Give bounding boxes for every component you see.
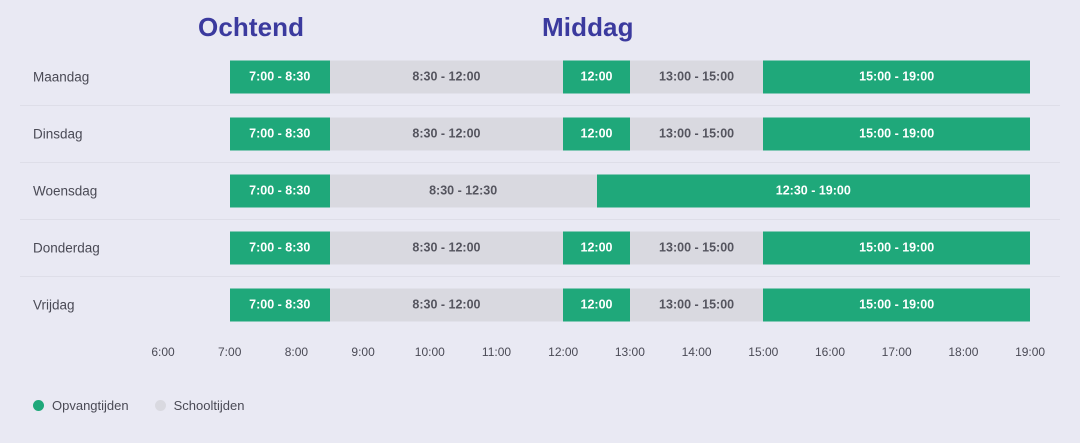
table-row: Donderdag7:00 - 8:308:30 - 12:0012:0013:… <box>0 219 1080 276</box>
axis-tick-label: 17:00 <box>882 345 912 359</box>
row-separator <box>20 162 1060 163</box>
axis-tick-label: 8:00 <box>285 345 308 359</box>
day-timeline-track: 7:00 - 8:308:30 - 12:3012:30 - 19:00 <box>0 174 1080 207</box>
axis-tick-label: 7:00 <box>218 345 241 359</box>
legend-item-care[interactable]: Opvangtijden <box>33 398 129 413</box>
legend-label: Opvangtijden <box>52 398 129 413</box>
care-time-segment[interactable]: 12:00 <box>563 231 630 264</box>
care-time-segment[interactable]: 7:00 - 8:30 <box>230 117 330 150</box>
axis-tick-label: 18:00 <box>948 345 978 359</box>
care-time-segment[interactable]: 7:00 - 8:30 <box>230 60 330 93</box>
care-time-segment[interactable]: 12:00 <box>563 288 630 321</box>
school-time-segment[interactable]: 8:30 - 12:00 <box>330 231 563 264</box>
legend-dot-icon <box>155 400 166 411</box>
school-time-segment[interactable]: 13:00 - 15:00 <box>630 117 763 150</box>
school-time-segment[interactable]: 8:30 - 12:00 <box>330 60 563 93</box>
axis-tick-label: 12:00 <box>548 345 578 359</box>
day-timeline-track: 7:00 - 8:308:30 - 12:0012:0013:00 - 15:0… <box>0 60 1080 93</box>
row-separator <box>20 219 1060 220</box>
care-time-segment[interactable]: 15:00 - 19:00 <box>763 231 1030 264</box>
legend-label: Schooltijden <box>174 398 245 413</box>
axis-tick-label: 14:00 <box>682 345 712 359</box>
section-header-middag: Middag <box>542 12 634 43</box>
school-time-segment[interactable]: 8:30 - 12:30 <box>330 174 597 207</box>
day-timeline-track: 7:00 - 8:308:30 - 12:0012:0013:00 - 15:0… <box>0 288 1080 321</box>
legend: OpvangtijdenSchooltijden <box>33 398 244 413</box>
axis-tick-label: 19:00 <box>1015 345 1045 359</box>
care-time-segment[interactable]: 12:30 - 19:00 <box>597 174 1031 207</box>
table-row: Dinsdag7:00 - 8:308:30 - 12:0012:0013:00… <box>0 105 1080 162</box>
school-time-segment[interactable]: 13:00 - 15:00 <box>630 231 763 264</box>
row-separator <box>20 105 1060 106</box>
time-axis: 6:007:008:009:0010:0011:0012:0013:0014:0… <box>0 345 1080 367</box>
school-time-segment[interactable]: 13:00 - 15:00 <box>630 288 763 321</box>
axis-tick-label: 16:00 <box>815 345 845 359</box>
axis-tick-label: 6:00 <box>151 345 174 359</box>
day-timeline-track: 7:00 - 8:308:30 - 12:0012:0013:00 - 15:0… <box>0 231 1080 264</box>
axis-tick-label: 9:00 <box>351 345 374 359</box>
day-timeline-track: 7:00 - 8:308:30 - 12:0012:0013:00 - 15:0… <box>0 117 1080 150</box>
school-time-segment[interactable]: 8:30 - 12:00 <box>330 288 563 321</box>
care-time-segment[interactable]: 12:00 <box>563 117 630 150</box>
care-time-segment[interactable]: 15:00 - 19:00 <box>763 288 1030 321</box>
axis-tick-label: 11:00 <box>482 345 511 359</box>
care-time-segment[interactable]: 12:00 <box>563 60 630 93</box>
axis-tick-label: 15:00 <box>748 345 778 359</box>
table-row: Maandag7:00 - 8:308:30 - 12:0012:0013:00… <box>0 48 1080 105</box>
row-separator <box>20 276 1060 277</box>
table-row: Woensdag7:00 - 8:308:30 - 12:3012:30 - 1… <box>0 162 1080 219</box>
care-time-segment[interactable]: 7:00 - 8:30 <box>230 174 330 207</box>
school-time-segment[interactable]: 8:30 - 12:00 <box>330 117 563 150</box>
schedule-page: OchtendMiddag Maandag7:00 - 8:308:30 - 1… <box>0 0 1080 443</box>
legend-item-school[interactable]: Schooltijden <box>155 398 245 413</box>
table-row: Vrijdag7:00 - 8:308:30 - 12:0012:0013:00… <box>0 276 1080 333</box>
care-time-segment[interactable]: 15:00 - 19:00 <box>763 60 1030 93</box>
section-header-ochtend: Ochtend <box>198 12 304 43</box>
school-time-segment[interactable]: 13:00 - 15:00 <box>630 60 763 93</box>
care-time-segment[interactable]: 15:00 - 19:00 <box>763 117 1030 150</box>
axis-tick-label: 10:00 <box>415 345 445 359</box>
care-time-segment[interactable]: 7:00 - 8:30 <box>230 288 330 321</box>
axis-tick-label: 13:00 <box>615 345 645 359</box>
care-time-segment[interactable]: 7:00 - 8:30 <box>230 231 330 264</box>
legend-dot-icon <box>33 400 44 411</box>
